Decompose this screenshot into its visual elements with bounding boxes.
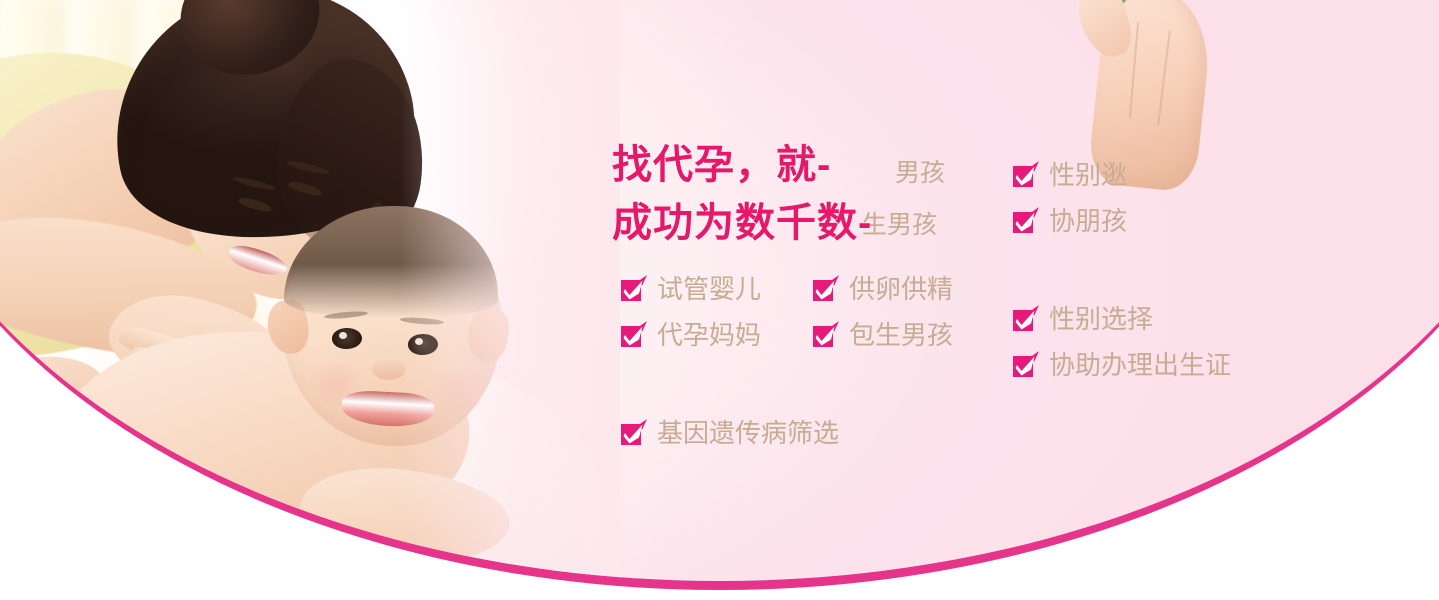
feature-item[interactable]: 性别选择	[1012, 296, 1231, 342]
feature-column-middle: 供卵供精 包生男孩	[812, 266, 953, 358]
mother-and-baby-photo	[0, 0, 560, 580]
feature-label: 协助办理出生证	[1049, 350, 1231, 380]
feature-item[interactable]: 供卵供精	[812, 266, 953, 312]
baby-toe	[12, 362, 32, 378]
feature-label: 代孕妈妈	[657, 320, 761, 350]
ghost-text-line-2: 生男孩	[862, 210, 937, 240]
checkbox-checked-icon	[812, 275, 840, 303]
feature-label: 协朋孩	[1049, 206, 1127, 236]
feature-label: 包生男孩	[849, 320, 953, 350]
feature-item[interactable]: 包生男孩	[812, 312, 953, 358]
headline-line-1: 找代孕，就-	[612, 136, 872, 194]
ghost-text-line-1: 男孩	[895, 158, 945, 188]
headline: 找代孕，就- 成功为数千数-	[612, 136, 872, 252]
feature-label: 供卵供精	[849, 274, 953, 304]
checkbox-checked-icon	[620, 419, 648, 447]
feature-item[interactable]: 代孕妈妈	[620, 312, 839, 358]
column-spacer	[1012, 244, 1231, 296]
photo-edge-fade	[400, 0, 620, 580]
feature-item[interactable]: 协朋孩	[1012, 198, 1231, 244]
checkbox-checked-icon	[1012, 161, 1040, 189]
checkbox-checked-icon	[812, 321, 840, 349]
feature-label: 基因遗传病筛选	[657, 418, 839, 448]
feature-column-right: 性别逖 协朋孩 性别选择 协助办理出生证	[1012, 152, 1231, 388]
promo-banner: 男孩 生男孩 找代孕，就- 成功为数千数- 试管婴儿 代孕妈妈 基因遗传病筛选	[0, 0, 1439, 600]
checkbox-checked-icon	[620, 275, 648, 303]
checkbox-checked-icon	[1012, 305, 1040, 333]
hand-holding-pink-rose	[1045, 0, 1285, 70]
baby-eye-left	[332, 328, 362, 349]
feature-label: 试管婴儿	[657, 274, 761, 304]
feature-item[interactable]: 试管婴儿	[620, 266, 839, 312]
feature-item[interactable]: 性别逖	[1012, 152, 1231, 198]
feature-label: 性别选择	[1049, 304, 1153, 334]
feature-column-left: 试管婴儿 代孕妈妈 基因遗传病筛选	[620, 266, 839, 456]
feature-item[interactable]: 协助办理出生证	[1012, 342, 1231, 388]
headline-line-2: 成功为数千数-	[612, 194, 872, 252]
checkbox-checked-icon	[1012, 207, 1040, 235]
feature-label: 性别逖	[1049, 160, 1127, 190]
feature-item[interactable]: 基因遗传病筛选	[620, 410, 839, 456]
checkbox-checked-icon	[620, 321, 648, 349]
checkbox-checked-icon	[1012, 351, 1040, 379]
column-spacer	[620, 358, 839, 410]
